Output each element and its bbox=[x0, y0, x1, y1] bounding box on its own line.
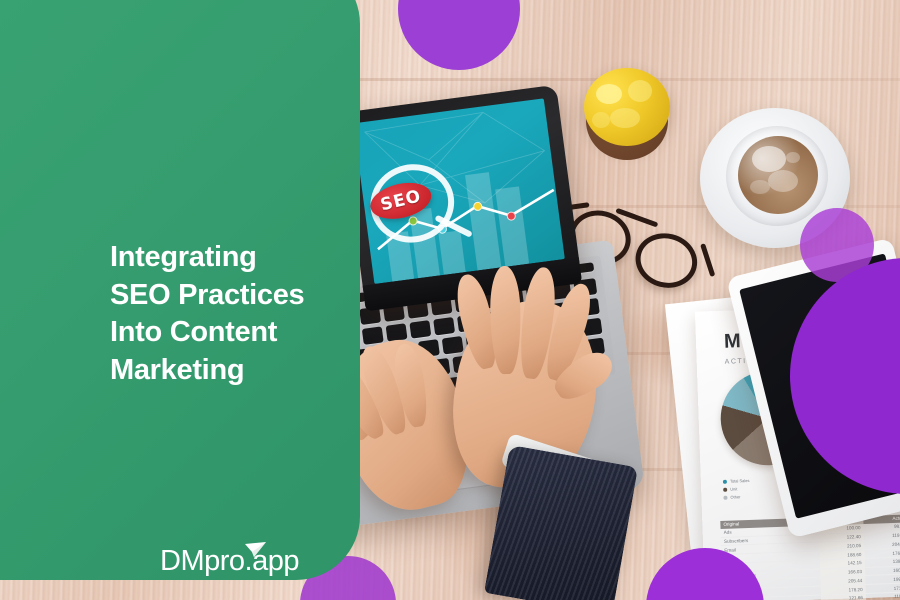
title-line-3: Into Content bbox=[110, 314, 390, 352]
paper-plane-icon bbox=[242, 540, 268, 564]
brand-logo[interactable]: DMpro.app bbox=[160, 545, 299, 578]
seo-badge-label: SEO bbox=[378, 186, 423, 215]
image-canvas: MU ACTIVE REPORT Total Sales Profit Cost… bbox=[0, 0, 900, 600]
sweater-sleeve bbox=[484, 445, 638, 600]
page-title: Integrating SEO Practices Into Content M… bbox=[110, 239, 390, 390]
title-line-2: SEO Practices bbox=[110, 277, 390, 315]
title-line-4: Marketing bbox=[110, 352, 390, 390]
title-line-1: Integrating bbox=[110, 239, 390, 277]
brand-logo-text: DMpro.app bbox=[160, 545, 299, 578]
